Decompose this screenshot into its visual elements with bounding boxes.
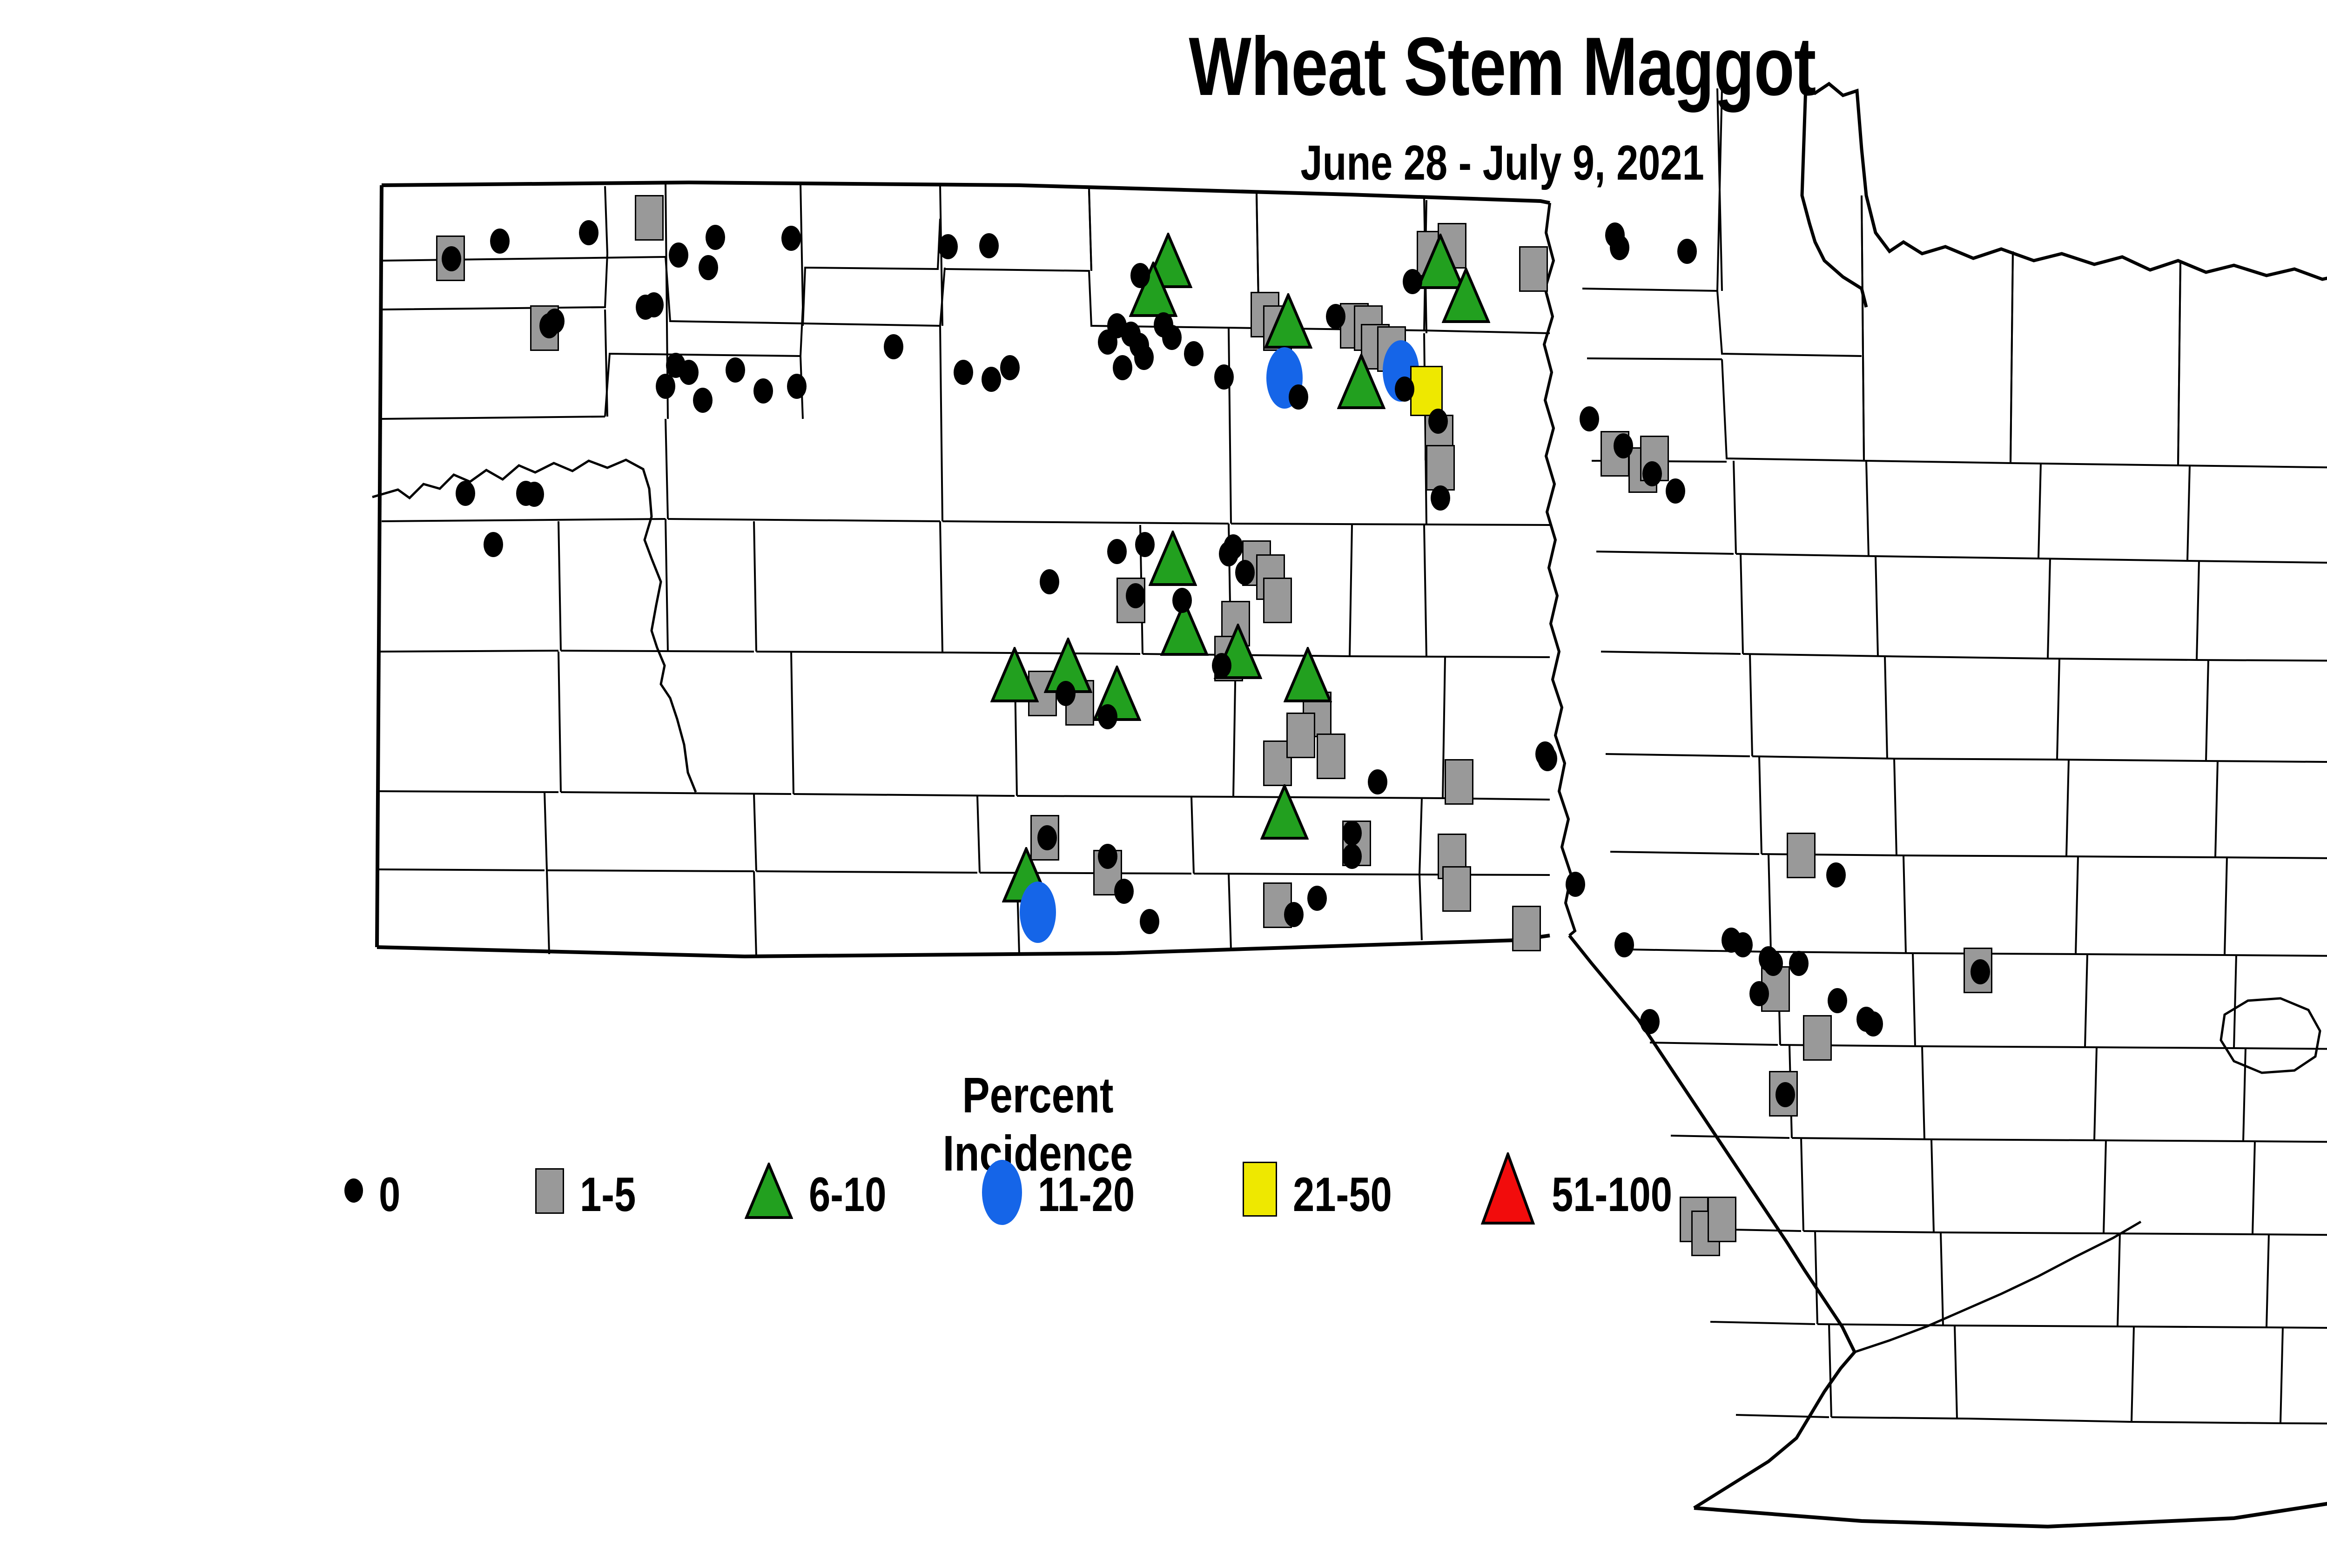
- map-marker-0: [679, 360, 699, 385]
- map-marker-0: [1098, 844, 1117, 869]
- map-marker-0: [1428, 409, 1448, 434]
- map-marker-1-5: [1512, 906, 1541, 951]
- map-marker-0: [938, 234, 958, 259]
- map-marker-0: [525, 482, 544, 507]
- map-marker-1-5: [1442, 866, 1471, 912]
- map-marker-0: [979, 233, 999, 258]
- map-marker-0: [1037, 825, 1057, 850]
- legend-symbol-circle-blue: [982, 1160, 1022, 1225]
- map-marker-0: [1289, 384, 1308, 410]
- map-marker-0: [1134, 345, 1154, 370]
- map-marker-0: [1172, 588, 1192, 613]
- incidence-markers: [0, 0, 2327, 1568]
- map-marker-0: [1368, 769, 1387, 794]
- map-marker-0: [787, 374, 807, 399]
- map-marker-0: [1235, 560, 1255, 585]
- map-marker-0: [1566, 872, 1585, 897]
- map-marker-6-10: [990, 647, 1039, 703]
- map-marker-0: [1733, 932, 1753, 957]
- map-marker-0: [693, 388, 713, 413]
- map-marker-1-5: [1263, 578, 1292, 623]
- map-marker-0: [1113, 355, 1132, 380]
- map-marker-0: [1342, 821, 1362, 846]
- map-marker-0: [1580, 406, 1599, 431]
- map-marker-0: [1826, 862, 1846, 888]
- map-marker-6-10: [1284, 647, 1332, 703]
- map-marker-0: [1642, 461, 1662, 486]
- map-marker-0: [1403, 269, 1422, 294]
- map-marker-0: [1749, 981, 1769, 1006]
- map-marker-0: [781, 226, 801, 251]
- map-marker-1-5: [1317, 734, 1345, 779]
- map-marker-0: [490, 229, 510, 254]
- map-marker-0: [753, 378, 773, 404]
- map-marker-6-10: [1337, 354, 1385, 410]
- legend-label-1-5: 1-5: [580, 1167, 650, 1223]
- map-marker-0: [1162, 325, 1182, 350]
- map-marker-0: [982, 367, 1001, 392]
- map-marker-0: [656, 374, 675, 399]
- map-marker-0: [1219, 541, 1238, 566]
- legend-label-21-50: 21-50: [1293, 1167, 1417, 1223]
- map-marker-0: [1789, 951, 1809, 976]
- map-marker-0: [1307, 886, 1327, 911]
- map-marker-0: [442, 246, 461, 271]
- map-marker-0: [1677, 239, 1697, 264]
- map-marker-0: [1614, 932, 1634, 957]
- map-marker-0: [456, 481, 475, 506]
- map-marker-0: [1431, 485, 1450, 511]
- map-marker-0: [1863, 1011, 1883, 1036]
- legend-label-0: 0: [379, 1167, 406, 1223]
- legend-label-11-20: 11-20: [1038, 1167, 1159, 1223]
- legend-symbol-square-gray: [535, 1168, 564, 1214]
- legend-row: 01-56-1011-2021-5051-100: [0, 1150, 2327, 1233]
- map-marker-0: [954, 360, 973, 385]
- map-marker-0: [1098, 704, 1117, 729]
- map-marker-6-10: [1264, 293, 1312, 349]
- map-marker-0: [1130, 263, 1150, 288]
- map-marker-0: [1971, 959, 1990, 984]
- map-marker-0: [1538, 746, 1557, 771]
- map-marker-0: [484, 532, 503, 557]
- map-marker-0: [1284, 902, 1304, 927]
- map-marker-0: [884, 334, 903, 359]
- legend-symbol-circle-small-black: [344, 1178, 363, 1203]
- map-marker-0: [644, 292, 664, 317]
- map-marker-0: [1140, 909, 1159, 934]
- map-marker-0: [1212, 653, 1231, 678]
- legend-label-51-100: 51-100: [1552, 1167, 1702, 1223]
- map-marker-0: [1098, 330, 1117, 355]
- map-marker-0: [1828, 988, 1847, 1013]
- map-marker-1-5: [1445, 759, 1473, 805]
- map-marker-0: [1126, 583, 1145, 608]
- map-marker-0: [1614, 433, 1633, 458]
- map-marker-0: [1214, 364, 1234, 390]
- map-marker-0: [706, 225, 725, 250]
- map-marker-6-10: [1442, 268, 1490, 323]
- map-marker-1-5: [1286, 713, 1315, 758]
- map-marker-11-20: [1020, 882, 1056, 943]
- map-marker-0: [1135, 532, 1155, 557]
- legend-label-6-10: 6-10: [809, 1167, 906, 1223]
- legend-symbol-square-yellow: [1243, 1162, 1277, 1217]
- map-marker-0: [1763, 951, 1783, 976]
- map-marker-0: [1605, 222, 1625, 248]
- map-marker-0: [1107, 539, 1127, 564]
- map-marker-0: [1000, 355, 1020, 380]
- map-marker-0: [1326, 304, 1345, 329]
- map-marker-0: [1342, 844, 1362, 869]
- map-marker-0: [726, 357, 745, 383]
- map-marker-1-5: [1803, 1015, 1832, 1061]
- map-marker-0: [1640, 1009, 1660, 1034]
- map-marker-1-5: [635, 195, 664, 241]
- map-marker-0: [545, 309, 565, 334]
- map-marker-0: [1114, 879, 1134, 904]
- map-marker-6-10: [1260, 784, 1309, 840]
- map-marker-0: [579, 220, 599, 245]
- map-marker-1-5: [1787, 833, 1816, 878]
- map-marker-0: [1056, 681, 1076, 706]
- map-marker-6-10: [1149, 531, 1197, 586]
- legend-symbol-triangle-green: [745, 1163, 793, 1222]
- map-marker-0: [1666, 478, 1685, 504]
- map-marker-1-5: [1519, 246, 1548, 292]
- map-marker-0: [699, 255, 718, 280]
- map-marker-0: [1395, 377, 1414, 402]
- map-marker-0: [669, 242, 688, 268]
- map-marker-0: [1040, 569, 1059, 594]
- legend-symbol-triangle-red: [1480, 1152, 1536, 1228]
- map-marker-1-5: [1426, 445, 1455, 491]
- legend: Percent Incidence 01-56-1011-2021-5051-1…: [0, 1066, 2327, 1252]
- map-marker-0: [1184, 341, 1204, 366]
